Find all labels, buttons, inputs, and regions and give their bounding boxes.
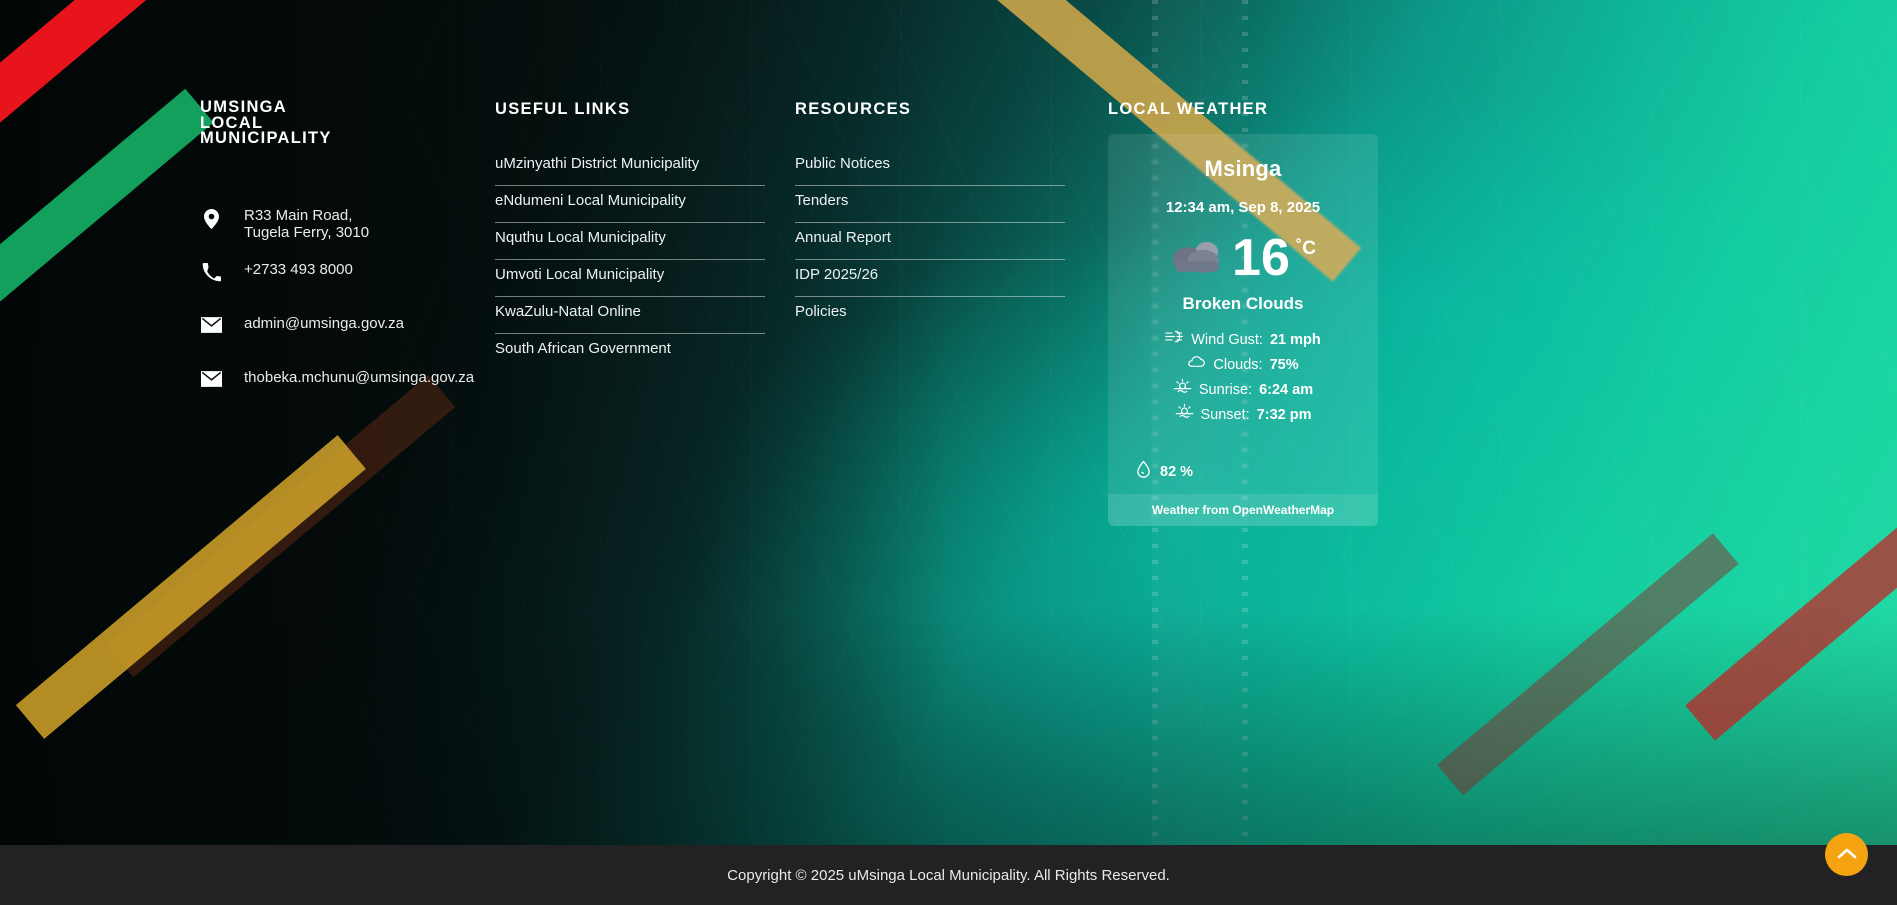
- resources-heading: RESOURCES: [795, 100, 1108, 119]
- weather-temperature-row: 16 ˚C: [1108, 232, 1378, 284]
- resource-link-3[interactable]: IDP 2025/26: [795, 260, 1065, 296]
- sunset-value: 7:32 pm: [1257, 403, 1312, 428]
- contact-list: R33 Main Road, Tugela Ferry, 3010 +2733 …: [200, 207, 495, 405]
- address-text: R33 Main Road, Tugela Ferry, 3010: [244, 207, 369, 241]
- page-title: UMSINGA LOCAL MUNICIPALITY: [200, 100, 495, 147]
- weather-stat-sunrise: Sunrise: 6:24 am: [1108, 378, 1378, 403]
- resource-link-1[interactable]: Tenders: [795, 186, 1065, 222]
- contact-email-secondary[interactable]: thobeka.mchunu@umsinga.gov.za: [200, 369, 495, 405]
- weather-column: LOCAL WEATHER Msinga 12:34 am, Sep 8, 20…: [1108, 100, 1897, 845]
- weather-temperature: 16: [1232, 232, 1290, 284]
- contact-email-primary[interactable]: admin@umsinga.gov.za: [200, 315, 495, 351]
- useful-link-2[interactable]: Nquthu Local Municipality: [495, 223, 765, 259]
- weather-timestamp: 12:34 am, Sep 8, 2025: [1108, 199, 1378, 216]
- brand-column: UMSINGA LOCAL MUNICIPALITY R33 Main Road…: [200, 100, 495, 845]
- resource-link-4[interactable]: Policies: [795, 297, 1065, 333]
- clouds-label: Clouds:: [1213, 353, 1262, 378]
- local-weather-heading: LOCAL WEATHER: [1108, 100, 1897, 119]
- list-item: Nquthu Local Municipality: [495, 223, 765, 260]
- sunset-label: Sunset:: [1201, 403, 1250, 428]
- humidity-drop-icon: [1136, 460, 1151, 483]
- list-item: Public Notices: [795, 149, 1065, 186]
- useful-link-0[interactable]: uMzinyathi District Municipality: [495, 149, 765, 185]
- useful-links-heading: USEFUL LINKS: [495, 100, 795, 119]
- copyright-text: Copyright © 2025 uMsinga Local Municipal…: [727, 867, 1170, 884]
- weather-card: Msinga 12:34 am, Sep 8, 2025 16 ˚C B: [1108, 134, 1378, 526]
- envelope-icon: [200, 369, 222, 387]
- contact-address: R33 Main Road, Tugela Ferry, 3010: [200, 207, 495, 243]
- resources-column: RESOURCES Public Notices Tenders Annual …: [795, 100, 1108, 845]
- list-item: Annual Report: [795, 223, 1065, 260]
- wind-icon: [1165, 328, 1184, 353]
- useful-links-column: USEFUL LINKS uMzinyathi District Municip…: [495, 100, 795, 845]
- clouds-value: 75%: [1270, 353, 1299, 378]
- useful-links-list: uMzinyathi District Municipality eNdumen…: [495, 149, 765, 370]
- brand-line-3: MUNICIPALITY: [200, 131, 495, 147]
- resource-link-0[interactable]: Public Notices: [795, 149, 1065, 185]
- contact-phone[interactable]: +2733 493 8000: [200, 261, 495, 297]
- cloud-weather-icon: [1170, 236, 1226, 281]
- list-item: Policies: [795, 297, 1065, 333]
- scroll-to-top-button[interactable]: [1825, 833, 1868, 876]
- list-item: Umvoti Local Municipality: [495, 260, 765, 297]
- weather-humidity: 82 %: [1136, 460, 1378, 483]
- phone-text: +2733 493 8000: [244, 261, 353, 278]
- useful-link-5[interactable]: South African Government: [495, 334, 765, 370]
- sunset-icon: [1175, 403, 1194, 428]
- location-pin-icon: [200, 207, 222, 229]
- copyright-bar: Copyright © 2025 uMsinga Local Municipal…: [0, 845, 1897, 905]
- weather-stat-wind: Wind Gust: 21 mph: [1108, 328, 1378, 353]
- envelope-icon: [200, 315, 222, 333]
- useful-link-1[interactable]: eNdumeni Local Municipality: [495, 186, 765, 222]
- wind-label: Wind Gust:: [1191, 328, 1263, 353]
- list-item: KwaZulu-Natal Online: [495, 297, 765, 334]
- list-item: South African Government: [495, 334, 765, 370]
- footer-page: UMSINGA LOCAL MUNICIPALITY R33 Main Road…: [0, 0, 1897, 905]
- humidity-value: 82 %: [1160, 464, 1193, 480]
- resource-link-2[interactable]: Annual Report: [795, 223, 1065, 259]
- weather-credit[interactable]: Weather from OpenWeatherMap: [1108, 494, 1378, 526]
- weather-description: Broken Clouds: [1108, 294, 1378, 314]
- useful-link-4[interactable]: KwaZulu-Natal Online: [495, 297, 765, 333]
- weather-stat-clouds: Clouds: 75%: [1108, 353, 1378, 378]
- chevron-up-icon: [1837, 847, 1857, 863]
- useful-link-3[interactable]: Umvoti Local Municipality: [495, 260, 765, 296]
- phone-icon: [200, 261, 222, 282]
- list-item: Tenders: [795, 186, 1065, 223]
- weather-stat-sunset: Sunset: 7:32 pm: [1108, 403, 1378, 428]
- email-primary-text: admin@umsinga.gov.za: [244, 315, 404, 332]
- weather-unit: ˚C: [1296, 238, 1316, 260]
- sunrise-label: Sunrise:: [1199, 378, 1252, 403]
- resources-list: Public Notices Tenders Annual Report IDP…: [795, 149, 1065, 333]
- sunrise-icon: [1173, 378, 1192, 403]
- list-item: eNdumeni Local Municipality: [495, 186, 765, 223]
- list-item: uMzinyathi District Municipality: [495, 149, 765, 186]
- weather-stats: Wind Gust: 21 mph Clouds: 75%: [1108, 328, 1378, 428]
- footer-columns: UMSINGA LOCAL MUNICIPALITY R33 Main Road…: [0, 0, 1897, 845]
- cloud-icon: [1187, 353, 1206, 378]
- list-item: IDP 2025/26: [795, 260, 1065, 297]
- wind-value: 21 mph: [1270, 328, 1321, 353]
- weather-city-name: Msinga: [1108, 156, 1378, 182]
- email-secondary-text: thobeka.mchunu@umsinga.gov.za: [244, 369, 474, 386]
- sunrise-value: 6:24 am: [1259, 378, 1313, 403]
